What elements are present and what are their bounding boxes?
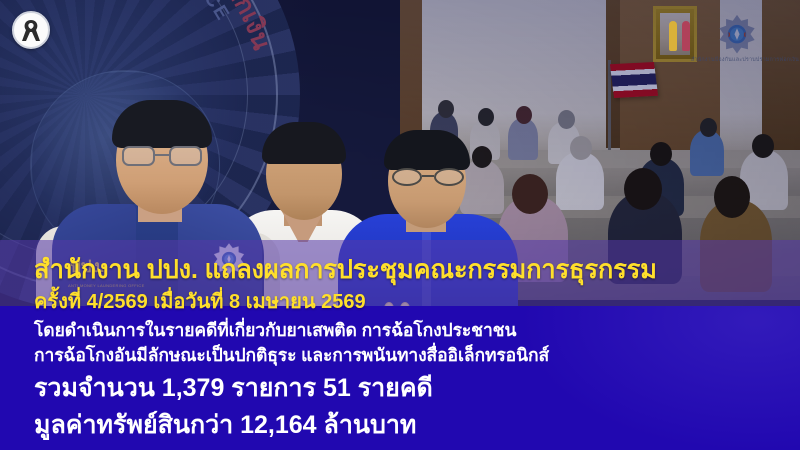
banner-text-block: สำนักงาน ปปง. แถลงผลการประชุมคณะกรรมการธ… [0,240,800,450]
detail-line-1: โดยดำเนินการในรายคดีที่เกี่ยวกับยาเสพติด… [34,316,516,344]
summary-line-1: รวมจำนวน 1,379 รายการ 51 รายคดี [34,368,433,408]
eyeglasses-icon [122,146,202,166]
eyeglasses-icon [392,168,464,186]
news-graphic: สำนักงานป้องกันและปราบปรามการฟอกเงิน [0,0,800,450]
headline-line-2: ครั้งที่ 4/2569 เมื่อวันที่ 8 เมษายน 256… [34,285,366,317]
headline-line-1: สำนักงาน ปปง. แถลงผลการประชุมคณะกรรมการธ… [34,250,657,290]
portrait-figures [660,13,690,55]
detail-line-2: การฉ้อโกงอันมีลักษณะเป็นปกติธุระ และการพ… [34,341,549,369]
summary-line-2: มูลค่าทรัพย์สินกว่า 12,164 ล้านบาท [34,405,416,445]
mourning-ribbon-icon [12,11,50,49]
